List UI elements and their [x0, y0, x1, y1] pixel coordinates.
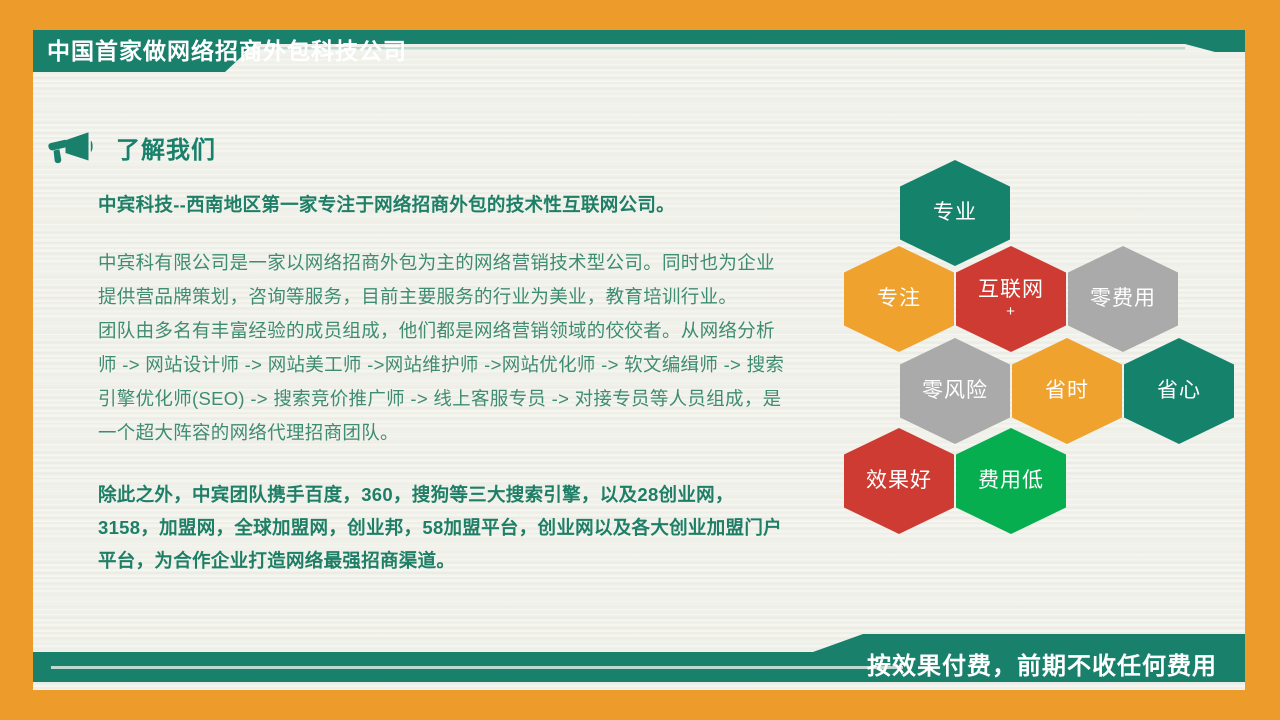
hexagon-label: 零费用: [1090, 286, 1156, 312]
copy-paragraph-2: 团队由多名有丰富经验的成员组成，他们都是网络营销领域的佼佼者。从网络分析师 ->…: [98, 314, 786, 450]
hexagon-label: 零风险: [922, 378, 988, 404]
copy-paragraph-1: 中宾科有限公司是一家以网络招商外包为主的网络营销技术型公司。同时也为企业提供营品…: [98, 246, 786, 314]
hexagon-xiaoguohao[interactable]: 效果好: [844, 428, 954, 534]
copy-tail: 除此之外，中宾团队携手百度，360，搜狗等三大搜索引擎，以及28创业网，3158…: [98, 478, 786, 577]
hexagon-label: 专业: [933, 200, 977, 226]
section-title: 了解我们: [116, 130, 216, 165]
hexagon-shengshi[interactable]: 省时: [1012, 338, 1122, 444]
hexagon-shengxin[interactable]: 省心: [1124, 338, 1234, 444]
header-bar: 中国首家做网络招商外包科技公司: [33, 30, 1245, 72]
footer-bar: 按效果付费，前期不收任何费用: [33, 634, 1245, 690]
hexagon-label: 省时: [1045, 378, 1089, 404]
hexagon-lingfengxian[interactable]: 零风险: [900, 338, 1010, 444]
top-orange-strip: [0, 0, 1280, 30]
header-title: 中国首家做网络招商外包科技公司: [47, 30, 407, 72]
hexagon-label: 省心: [1157, 378, 1201, 404]
slide-root: 中国首家做网络招商外包科技公司 了解我们 中宾科技--西南地区第一家专注于网络招…: [0, 0, 1280, 720]
footer-title: 按效果付费，前期不收任何费用: [867, 644, 1217, 690]
hexagon-label: 效果好: [866, 468, 932, 494]
hexagon-zhuanzhu[interactable]: 专注: [844, 246, 954, 352]
footer-rule: [51, 666, 903, 669]
hexagon-feiyongdi[interactable]: 费用低: [956, 428, 1066, 534]
hexagon-label: 费用低: [978, 468, 1044, 494]
hexagon-zhuanye[interactable]: 专业: [900, 160, 1010, 266]
hexagon-hulianwang[interactable]: 互联网+: [956, 246, 1066, 352]
hexagon-cluster: 专业专注互联网+零费用零风险省时省心效果好费用低: [830, 160, 1230, 540]
bottom-orange-strip: [0, 690, 1280, 720]
megaphone-icon: [48, 131, 94, 165]
hexagon-label: 专注: [877, 286, 921, 312]
hexagon-label: 互联网: [978, 277, 1044, 303]
about-copy: 中宾科技--西南地区第一家专注于网络招商外包的技术性互联网公司。 中宾科有限公司…: [98, 190, 786, 577]
copy-lead: 中宾科技--西南地区第一家专注于网络招商外包的技术性互联网公司。: [98, 190, 786, 220]
hexagon-lingfeiyong[interactable]: 零费用: [1068, 246, 1178, 352]
section-heading: 了解我们: [48, 130, 216, 165]
hexagon-sublabel: +: [1006, 303, 1016, 321]
